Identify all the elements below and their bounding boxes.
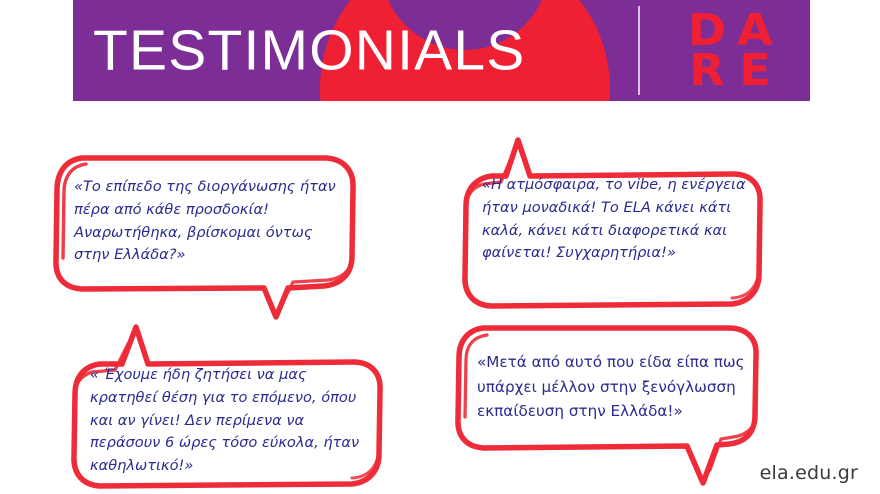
- testimonial-bubble-1: «Το επίπεδο της διοργάνωσης ήταν πέρα απ…: [52, 152, 357, 342]
- dare-logo: D A R E: [680, 11, 776, 91]
- header-divider: [638, 6, 640, 95]
- footer-website-url[interactable]: ela.edu.gr: [760, 462, 858, 484]
- testimonial-bubble-3: « Έχουμε ήδη ζητήσει να μας κρατηθεί θέσ…: [70, 322, 385, 494]
- testimonial-bubble-4: «Μετά από αυτό που είδα είπα πως υπάρχει…: [455, 323, 760, 493]
- page-title: TESTIMONIALS: [93, 22, 525, 79]
- testimonial-bubble-2: «Η ατμόσφαιρα, το vibe, η ενέργεια ήταν …: [460, 136, 765, 316]
- testimonial-text-4: «Μετά από αυτό που είδα είπα πως υπάρχει…: [477, 350, 745, 424]
- testimonial-text-2: «Η ατμόσφαιρα, το vibe, η ενέργεια ήταν …: [482, 174, 754, 265]
- header-banner: TESTIMONIALS D A R E: [73, 0, 810, 101]
- testimonial-text-1: «Το επίπεδο της διοργάνωσης ήταν πέρα απ…: [74, 176, 346, 267]
- testimonial-text-3: « Έχουμε ήδη ζητήσει να μας κρατηθεί θέσ…: [90, 364, 372, 478]
- dare-logo-letter-e: E: [731, 51, 777, 91]
- dare-logo-letter-r: R: [679, 51, 734, 91]
